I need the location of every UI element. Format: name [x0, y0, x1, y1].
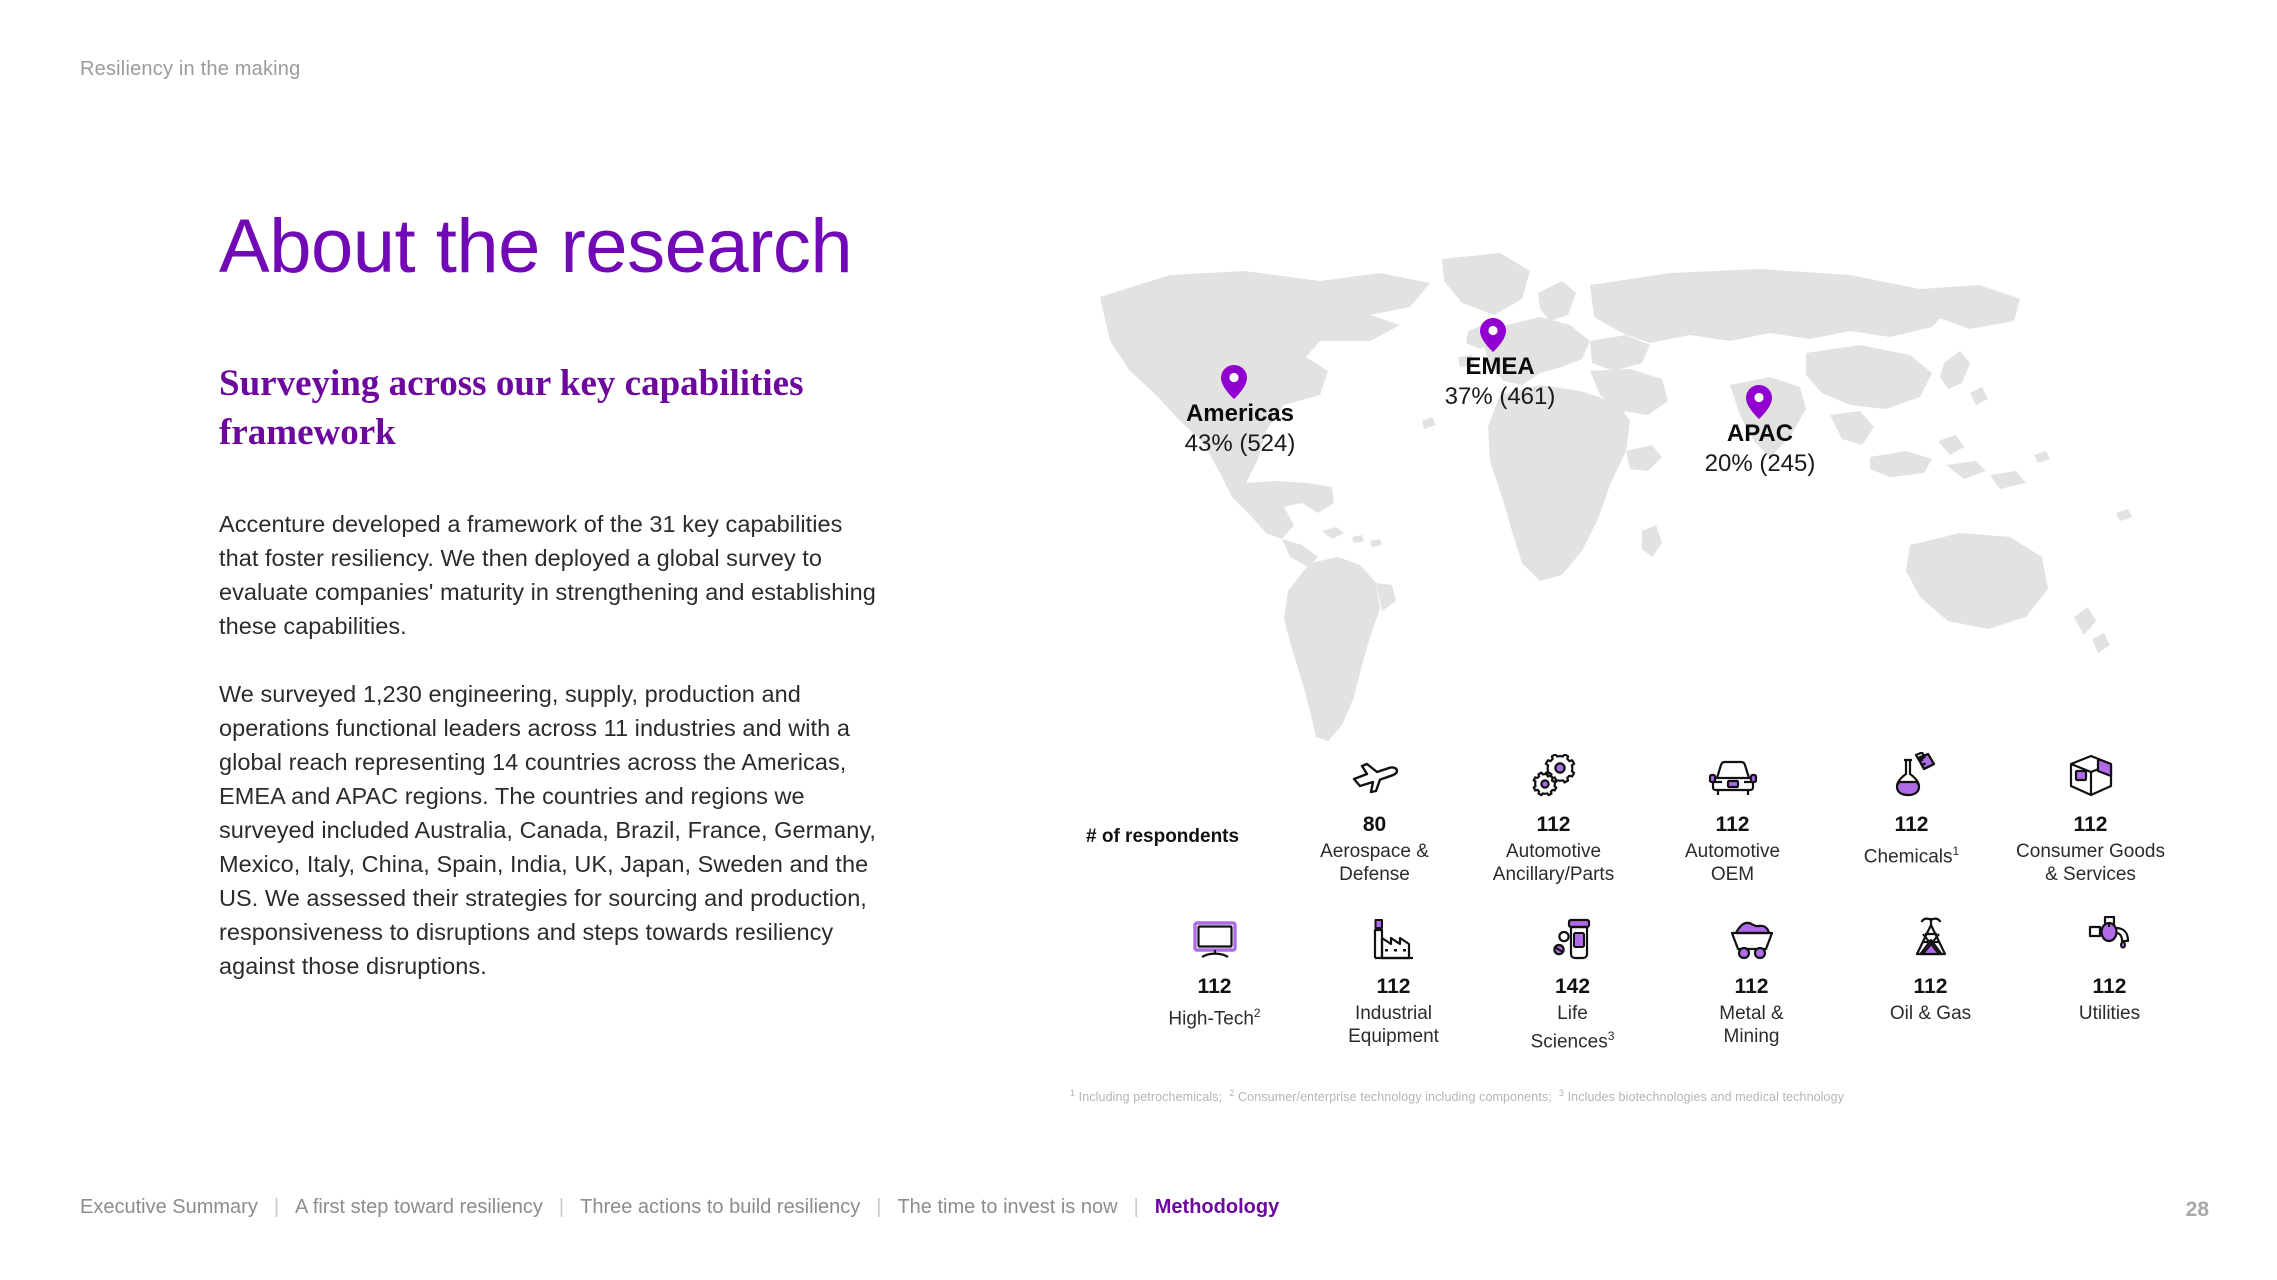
page-number: 28	[2186, 1198, 2209, 1222]
industry-name: AutomotiveAncillary/Parts	[1464, 840, 1643, 886]
nav-separator: |	[559, 1196, 564, 1219]
region-name: EMEA	[1440, 352, 1560, 382]
industry-count: 112	[1822, 812, 2001, 838]
flask-test-tube-icon	[1822, 750, 2001, 798]
pill-bottle-icon	[1483, 912, 1662, 960]
map-region-americas: Americas 43% (524)	[1175, 365, 1305, 459]
industry-name: IndustrialEquipment	[1304, 1002, 1483, 1048]
footnotes: 1 Including petrochemicals; 2 Consumer/e…	[1070, 1088, 1844, 1104]
industry-utilities: 112 Utilities	[2020, 912, 2199, 1053]
industry-oil-gas: 112 Oil & Gas	[1841, 912, 2020, 1053]
region-value: 43% (524)	[1175, 429, 1305, 459]
industries-row-2: 112 High-Tech2 112 IndustrialEquipment	[1070, 912, 2235, 1053]
region-name: Americas	[1175, 399, 1305, 429]
map-region-apac: APAC 20% (245)	[1700, 385, 1820, 479]
industry-count: 112	[2020, 974, 2199, 1000]
map-pin-icon	[1221, 365, 1247, 399]
faucet-icon	[2020, 912, 2199, 960]
industry-name: Aerospace &Defense	[1285, 840, 1464, 886]
industry-aerospace-defense: 80 Aerospace &Defense	[1285, 750, 1464, 886]
nav-item-methodology[interactable]: Methodology	[1155, 1196, 1279, 1219]
nav-separator: |	[274, 1196, 279, 1219]
world-map	[1070, 245, 2210, 745]
map-pin-icon	[1746, 385, 1772, 419]
industry-name: Chemicals1	[1822, 840, 2001, 868]
industries-section: # of respondents 80 Aerospace &Defense 1…	[1070, 750, 2180, 1053]
bottom-navigation: Executive Summary | A first step toward …	[80, 1196, 1279, 1219]
industry-count: 142	[1483, 974, 1662, 1000]
airplane-icon	[1285, 750, 1464, 798]
industry-count: 112	[1643, 812, 1822, 838]
region-value: 37% (461)	[1440, 382, 1560, 412]
oil-derrick-icon	[1841, 912, 2020, 960]
nav-item-time-to-invest[interactable]: The time to invest is now	[897, 1196, 1117, 1219]
nav-separator: |	[1134, 1196, 1139, 1219]
body-paragraph-2: We surveyed 1,230 engineering, supply, p…	[219, 677, 879, 983]
nav-item-executive-summary[interactable]: Executive Summary	[80, 1196, 258, 1219]
industry-chemicals: 112 Chemicals1	[1822, 750, 2001, 886]
industries-row-1: 80 Aerospace &Defense 112 AutomotiveAnci…	[1070, 750, 2277, 886]
nav-separator: |	[876, 1196, 881, 1219]
region-name: APAC	[1700, 419, 1820, 449]
industry-high-tech: 112 High-Tech2	[1125, 912, 1304, 1053]
industry-name: Oil & Gas	[1841, 1002, 2020, 1025]
section-subtitle: Surveying across our key capabilities fr…	[219, 359, 879, 457]
left-content-column: About the research Surveying across our …	[219, 205, 879, 983]
industry-count: 112	[1662, 974, 1841, 1000]
industry-count: 112	[2001, 812, 2180, 838]
map-pin-icon	[1480, 318, 1506, 352]
deck-header-title: Resiliency in the making	[80, 58, 300, 81]
industry-name: LifeSciences3	[1483, 1002, 1662, 1053]
industry-count: 112	[1304, 974, 1483, 1000]
mine-cart-icon	[1662, 912, 1841, 960]
nav-item-three-actions[interactable]: Three actions to build resiliency	[580, 1196, 860, 1219]
industry-automotive-ancillary: 112 AutomotiveAncillary/Parts	[1464, 750, 1643, 886]
map-landmasses	[1100, 253, 2132, 741]
industry-industrial-equipment: 112 IndustrialEquipment	[1304, 912, 1483, 1053]
gears-icon	[1464, 750, 1643, 798]
industry-count: 112	[1841, 974, 2020, 1000]
industry-count: 112	[1464, 812, 1643, 838]
industry-name: High-Tech2	[1125, 1002, 1304, 1030]
factory-icon	[1304, 912, 1483, 960]
industry-name: Metal &Mining	[1662, 1002, 1841, 1048]
industry-consumer-goods: 112 Consumer Goods& Services	[2001, 750, 2180, 886]
nav-item-first-step[interactable]: A first step toward resiliency	[295, 1196, 543, 1219]
industry-automotive-oem: 112 AutomotiveOEM	[1643, 750, 1822, 886]
region-value: 20% (245)	[1700, 449, 1820, 479]
box-package-icon	[2001, 750, 2180, 798]
respondents-label: # of respondents	[1086, 826, 1239, 848]
industry-metal-mining: 112 Metal &Mining	[1662, 912, 1841, 1053]
industry-count: 80	[1285, 812, 1464, 838]
industry-count: 112	[1125, 974, 1304, 1000]
industry-name: Consumer Goods& Services	[2001, 840, 2180, 886]
industry-life-sciences: 142 LifeSciences3	[1483, 912, 1662, 1053]
page-title: About the research	[219, 205, 879, 289]
industry-name: Utilities	[2020, 1002, 2199, 1025]
industry-name: AutomotiveOEM	[1643, 840, 1822, 886]
map-region-emea: EMEA 37% (461)	[1440, 318, 1560, 412]
car-front-icon	[1643, 750, 1822, 798]
body-paragraph-1: Accenture developed a framework of the 3…	[219, 507, 879, 643]
monitor-icon	[1125, 912, 1304, 960]
